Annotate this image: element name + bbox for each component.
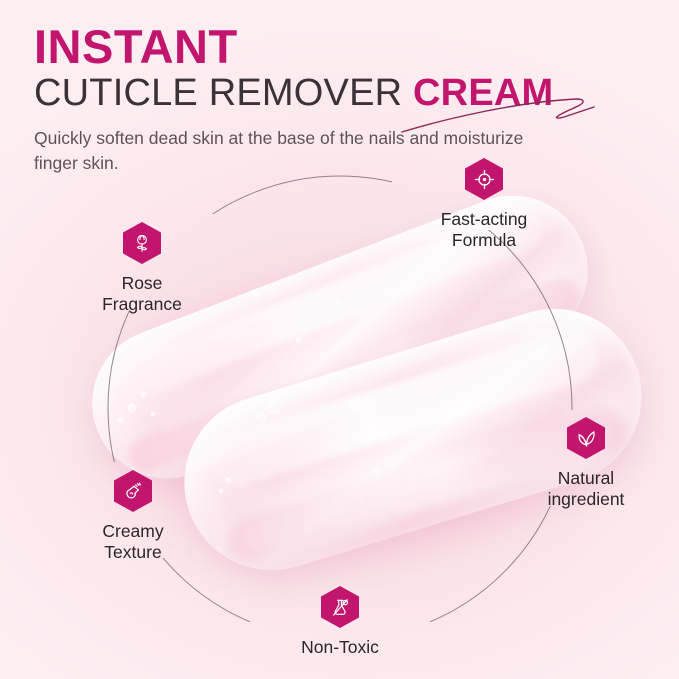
cream-tube-icon <box>114 470 152 512</box>
feature-label: Rose Fragrance <box>102 273 182 316</box>
feature-label: Creamy Texture <box>102 521 163 564</box>
hex-badge <box>321 586 359 628</box>
hex-badge <box>114 470 152 512</box>
feature-fast-acting[interactable]: Fast-acting Formula <box>400 158 568 252</box>
swoosh-underline-icon <box>398 96 598 136</box>
target-crosshair-icon <box>465 158 503 200</box>
no-chemicals-flask-icon <box>321 586 359 628</box>
feature-label: Natural ingredient <box>548 468 625 511</box>
feature-rose-fragrance[interactable]: Rose Fragrance <box>74 222 210 316</box>
feature-creamy-texture[interactable]: Creamy Texture <box>66 470 200 564</box>
hex-badge <box>567 417 605 459</box>
feature-label: Fast-acting Formula <box>441 209 528 252</box>
leaf-icon <box>567 417 605 459</box>
page-title-main: INSTANT <box>34 22 644 71</box>
feature-label: Non-Toxic <box>301 637 379 658</box>
hex-badge <box>465 158 503 200</box>
infographic-canvas: INSTANT CUTICLE REMOVER CREAM Quickly so… <box>0 0 679 679</box>
feature-natural-ingredient[interactable]: Natural ingredient <box>512 417 660 511</box>
page-title-sub-plain: CUTICLE REMOVER <box>34 72 413 114</box>
feature-non-toxic[interactable]: Non-Toxic <box>258 586 422 658</box>
hex-badge <box>123 222 161 264</box>
rose-flower-icon <box>123 222 161 264</box>
